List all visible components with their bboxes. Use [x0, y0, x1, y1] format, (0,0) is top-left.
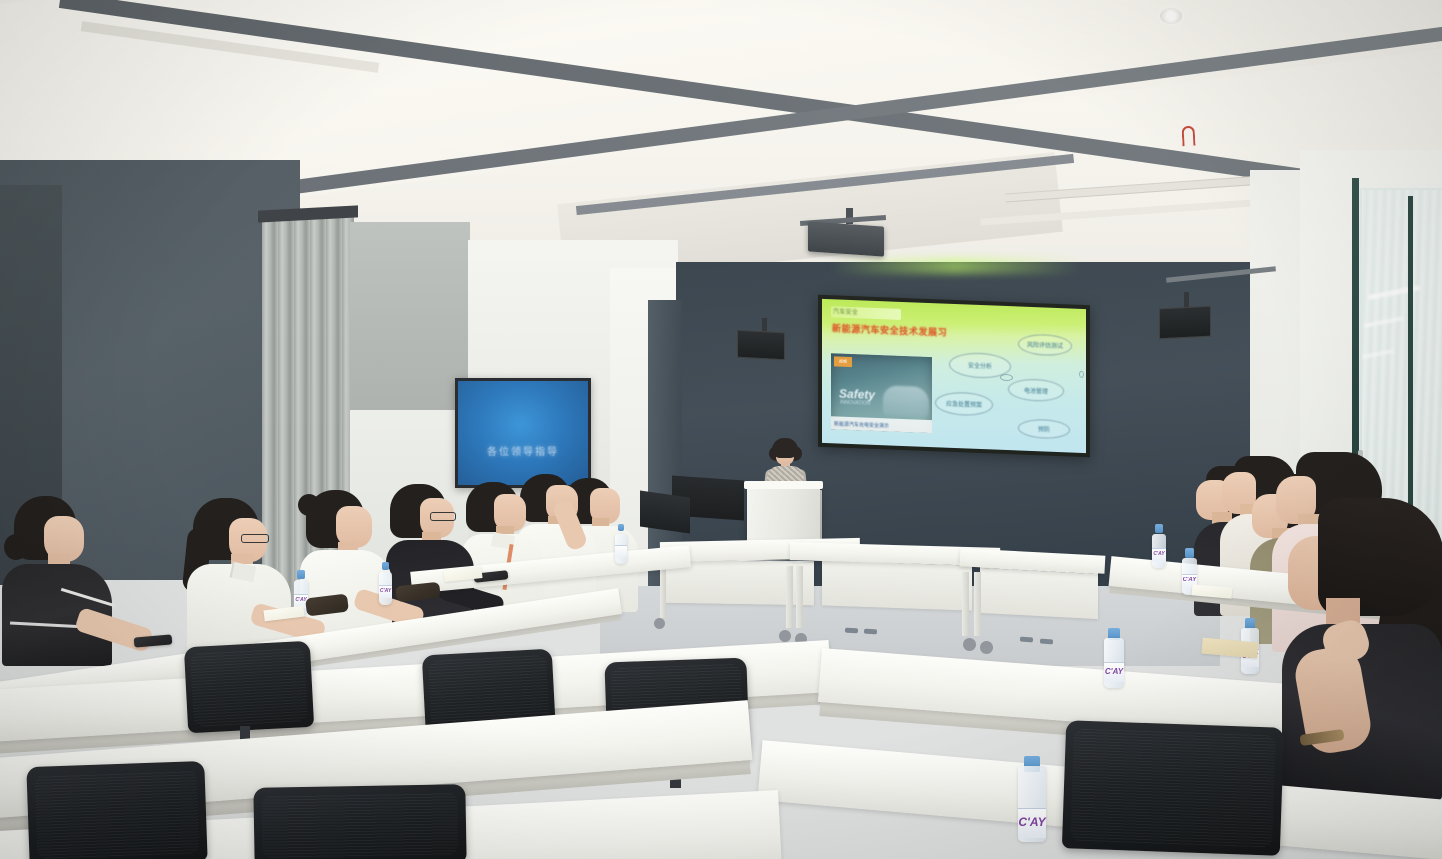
presenter-hair-top [772, 438, 798, 458]
glasses-icon [241, 534, 269, 543]
chair-mesh [35, 769, 200, 859]
bottle-label: C'AY [1104, 662, 1124, 682]
slide-embedded-photo: 视频 Safety INNOVATION 新能源汽车充电安全演示 [831, 353, 932, 433]
attendee-12 [1282, 498, 1442, 798]
attendee-1 [2, 496, 122, 666]
bottle-cap [1155, 524, 1163, 533]
water-bottle[interactable]: C'AY [379, 562, 392, 604]
slide-thought-bubble: 预防 [1018, 418, 1070, 439]
speaker-mount-arm [762, 318, 767, 332]
blue-display-text: 各位领导指导 [458, 443, 588, 458]
office-chair[interactable] [184, 641, 314, 733]
blue-display-surface: 各位领导指导 [458, 381, 588, 485]
bottle-brand: C'AY [1182, 577, 1197, 583]
wall-speaker-left-icon [737, 330, 785, 361]
slide-bubble-tail [1000, 374, 1013, 381]
chair-mesh [190, 647, 308, 727]
presentation-slide: 汽车安全 新能源汽车安全技术发展习 视频 Safety INNOVATION 新… [822, 299, 1086, 453]
water-bottle[interactable]: C'AY [1152, 524, 1166, 568]
table-caster [963, 638, 976, 651]
slide-title: 新能源汽车安全技术发展习 [832, 321, 947, 338]
table-modesty-panel [980, 567, 1098, 619]
table-leg [796, 566, 803, 628]
slide-thought-bubble: 风险评估测试 [1018, 333, 1072, 356]
table-leg [974, 572, 981, 636]
bottle-label [615, 545, 627, 557]
bottle-brand: C'AY [1018, 815, 1046, 829]
water-bottle[interactable] [615, 524, 627, 562]
bottle-brand: C'AY [1104, 667, 1124, 676]
water-bottle[interactable]: C'AY [1018, 756, 1046, 850]
bottle-label: C'AY [1152, 548, 1166, 562]
podium-top-surface [744, 481, 823, 489]
wall-mounted-blue-display[interactable]: 各位领导指导 [455, 378, 591, 488]
bottle-brand: C'AY [1152, 551, 1166, 557]
bottle-cap [618, 524, 625, 531]
chair-mesh [261, 792, 458, 857]
main-projection-screen[interactable]: 汽车安全 新能源汽车安全技术发展习 视频 Safety INNOVATION 新… [818, 295, 1090, 457]
ceiling-downlight-icon [1160, 8, 1182, 24]
attendee-2 [185, 498, 295, 658]
water-bottle[interactable]: C'AY [1104, 628, 1124, 692]
floor-marking [864, 629, 877, 635]
table-caster [779, 630, 791, 642]
bottle-brand: C'AY [379, 588, 392, 594]
slide-thought-bubble: 电池管理 [1008, 378, 1064, 402]
bottle-cap [382, 562, 389, 570]
wall-speaker-right-icon [1159, 306, 1211, 340]
glasses-icon [430, 512, 456, 521]
table-caster [654, 618, 665, 629]
conference-room-photo: 各位领导指导 汽车安全 新能源汽车安全技术发展习 视频 Safety INNOV… [0, 0, 1442, 859]
slide-thought-bubble: 应急处置预案 [935, 391, 993, 416]
table-modesty-panel [822, 559, 972, 610]
office-chair[interactable] [253, 784, 466, 859]
table-leg [962, 572, 969, 636]
wall-panel-grey [350, 222, 470, 412]
bottle-cap [1185, 548, 1193, 558]
smartphone-on-table[interactable] [134, 634, 173, 647]
table-caster [980, 641, 993, 654]
table-leg [786, 566, 793, 628]
floor-marking [1020, 637, 1033, 643]
bottle-label: C'AY [1018, 808, 1046, 838]
floor-marking [845, 628, 858, 634]
ceiling-red-hook-icon [1181, 126, 1195, 147]
attendee-hair-bun [298, 494, 320, 516]
slide-photo-subtitle: INNOVATION [840, 400, 870, 407]
office-chair[interactable] [26, 761, 207, 859]
bottle-label: C'AY [379, 585, 392, 598]
ceiling-projector-icon[interactable] [808, 221, 884, 256]
presenter-podium [747, 485, 820, 547]
chair-mesh [1070, 729, 1276, 848]
slide-side-marker [1079, 371, 1084, 378]
stage-dark-cabinet [640, 490, 690, 533]
screen-light-spill [830, 258, 1080, 274]
floor-marking [1040, 639, 1053, 645]
speaker-mount-arm [1184, 292, 1189, 308]
slide-photo-vehicle [883, 385, 929, 417]
slide-photo-badge: 视频 [834, 356, 852, 367]
office-chair[interactable] [1062, 720, 1284, 856]
bottle-cap [297, 570, 305, 579]
